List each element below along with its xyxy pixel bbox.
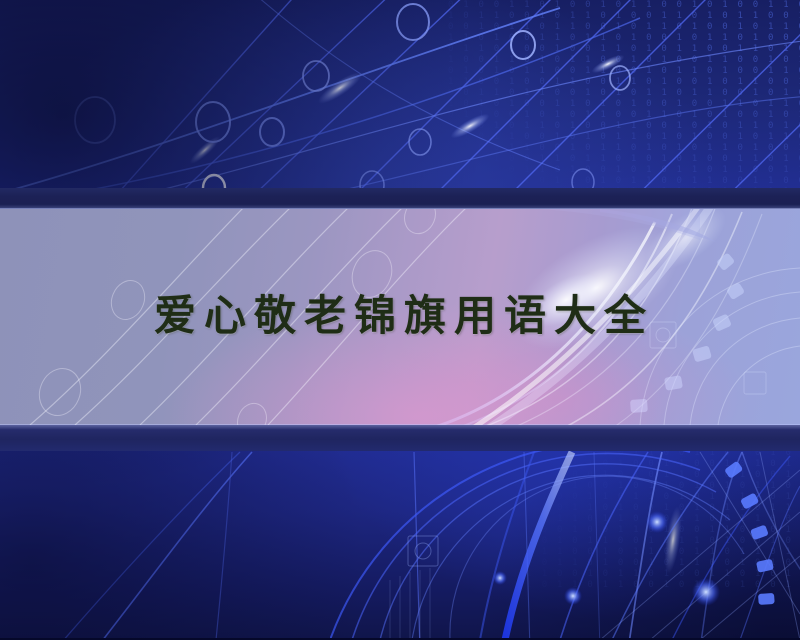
slide-title: 爱心敬老锦旗用语大全	[146, 295, 654, 337]
slide-canvas: 0 1 0 0 1 1 0 1 0 0 1 0 1 1 0 0 1 0 1 0 …	[0, 0, 800, 640]
slide-title-container: 爱心敬老锦旗用语大全	[0, 288, 800, 344]
